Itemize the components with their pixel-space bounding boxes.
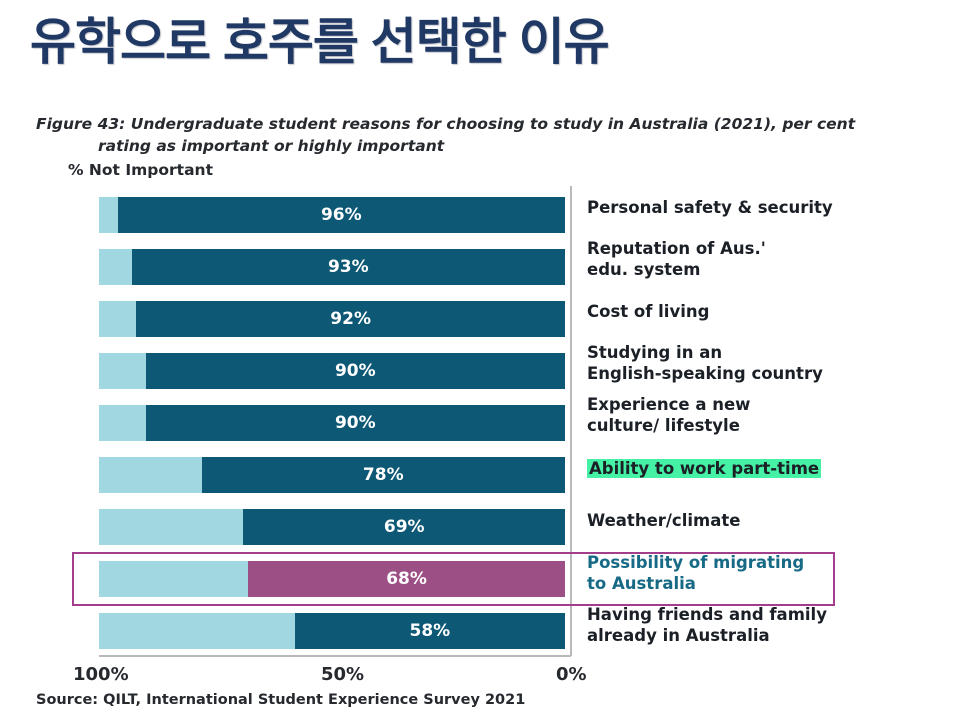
bar-value-label: 96%: [118, 197, 565, 233]
bar-value-label: 90%: [146, 353, 565, 389]
slide: 유학으로 호주를 선택한 이유 Figure 43: Undergraduate…: [0, 0, 960, 720]
bar-row: 90%: [99, 405, 565, 441]
axis-title: % Not Important: [68, 161, 213, 179]
bar-segment-important: 58%: [295, 613, 565, 649]
x-tick-100: 100%: [73, 664, 129, 685]
bar-value-label: 92%: [136, 301, 565, 337]
x-tick-0: 0%: [556, 664, 587, 685]
category-label-5: Ability to work part-time: [587, 458, 821, 479]
x-axis-ticks: 100% 50% 0%: [0, 664, 960, 688]
bar-segment-important: 93%: [132, 249, 565, 285]
bar-segment-not-important: [99, 405, 146, 441]
bar-segment-important: 69%: [243, 509, 565, 545]
bar-segment-not-important: [99, 249, 132, 285]
category-label-0: Personal safety & security: [587, 197, 833, 218]
source-note: Source: QILT, International Student Expe…: [36, 692, 525, 708]
migration-highlight-box: [72, 552, 835, 606]
category-label-2: Cost of living: [587, 301, 709, 322]
bar-row: 93%: [99, 249, 565, 285]
bar-row: 69%: [99, 509, 565, 545]
bar-row: 90%: [99, 353, 565, 389]
bar-segment-important: 96%: [118, 197, 565, 233]
bar-row: 78%: [99, 457, 565, 493]
figure-caption-line-1: Figure 43: Undergraduate student reasons…: [36, 115, 855, 133]
category-label-text-highlighted: Ability to work part-time: [587, 459, 821, 478]
bar-value-label: 58%: [295, 613, 565, 649]
bar-segment-not-important: [99, 197, 118, 233]
bar-value-label: 93%: [132, 249, 565, 285]
category-label-8: Having friends and family already in Aus…: [587, 604, 827, 646]
bar-row: 92%: [99, 301, 565, 337]
page-title: 유학으로 호주를 선택한 이유: [30, 14, 609, 72]
bar-segment-important: 92%: [136, 301, 565, 337]
category-label-6: Weather/climate: [587, 510, 740, 531]
bar-segment-not-important: [99, 301, 136, 337]
bar-segment-important: 90%: [146, 353, 565, 389]
bar-segment-not-important: [99, 353, 146, 389]
category-label-4: Experience a new culture/ lifestyle: [587, 394, 750, 436]
x-tick-50: 50%: [321, 664, 364, 685]
bar-value-label: 78%: [202, 457, 565, 493]
category-label-3: Studying in an English-speaking country: [587, 342, 823, 384]
bar-segment-not-important: [99, 613, 295, 649]
bar-segment-not-important: [99, 509, 243, 545]
bar-value-label: 69%: [243, 509, 565, 545]
bar-row: 58%: [99, 613, 565, 649]
figure-caption-line-2: rating as important or highly important: [36, 135, 866, 157]
bar-segment-important: 90%: [146, 405, 565, 441]
bar-segment-important: 78%: [202, 457, 565, 493]
figure-caption: Figure 43: Undergraduate student reasons…: [36, 113, 866, 157]
bar-segment-not-important: [99, 457, 202, 493]
category-label-1: Reputation of Aus.' edu. system: [587, 238, 766, 280]
bar-value-label: 90%: [146, 405, 565, 441]
bar-row: 96%: [99, 197, 565, 233]
